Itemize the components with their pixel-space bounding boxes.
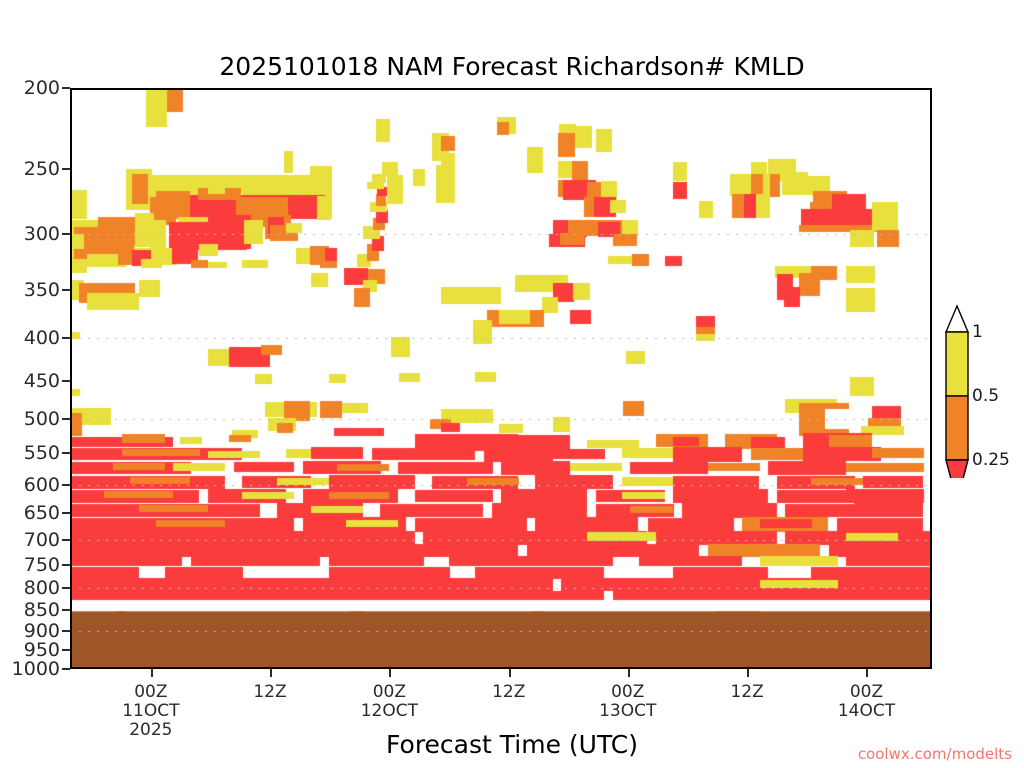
x-tick-label-line: 00Z: [599, 683, 656, 702]
y-tick-mark-300: [62, 233, 70, 235]
x-tick-mark-5: [747, 669, 749, 677]
x-tick-mark-6: [866, 669, 868, 677]
x-tick-mark-0: [151, 669, 153, 677]
y-tick-mark-200: [62, 87, 70, 89]
x-tick-label-line: 00Z: [361, 683, 418, 702]
plot-area[interactable]: [70, 88, 932, 669]
y-tick-mark-600: [62, 484, 70, 486]
chart-title: 2025101018 NAM Forecast Richardson# KMLD: [0, 52, 1024, 81]
x-tick-label-line: 14OCT: [838, 702, 895, 721]
y-tick-mark-950: [62, 649, 70, 651]
y-tick-mark-800: [62, 587, 70, 589]
x-tick-label-4: 00Z13OCT: [599, 683, 656, 721]
x-tick-label-line: 00Z: [838, 683, 895, 702]
colorbar-tick-label_1: 1: [972, 322, 983, 342]
x-tick-label-line: 13OCT: [599, 702, 656, 721]
x-tick-mark-1: [270, 669, 272, 677]
colorbar-band-yellow: [946, 332, 968, 396]
y-tick-mark-900: [62, 630, 70, 632]
colorbar-legend: 10.50.25: [940, 288, 1024, 478]
y-tick-mark-400: [62, 337, 70, 339]
colorbar-band-orange: [946, 396, 968, 460]
colorbar-tick-label_025: 0.25: [972, 450, 1010, 470]
x-tick-label-6: 00Z14OCT: [838, 683, 895, 721]
y-tick-mark-650: [62, 512, 70, 514]
watermark-link[interactable]: coolwx.com/modelts: [858, 745, 1012, 763]
y-tick-mark-750: [62, 564, 70, 566]
x-tick-label-line: 12Z: [730, 683, 763, 702]
x-tick-label-5: 12Z: [730, 683, 763, 702]
x-tick-label-line: 12Z: [253, 683, 286, 702]
colorbar-under-arrow: [946, 460, 968, 478]
x-tick-label-2: 00Z12OCT: [361, 683, 418, 721]
y-tick-mark-250: [62, 168, 70, 170]
x-tick-label-1: 12Z: [253, 683, 286, 702]
y-tick-mark-500: [62, 418, 70, 420]
chart-page: 2025101018 NAM Forecast Richardson# KMLD…: [0, 0, 1024, 768]
y-tick-mark-550: [62, 452, 70, 454]
x-tick-label-3: 12Z: [492, 683, 525, 702]
x-tick-mark-4: [628, 669, 630, 677]
x-tick-label-line: 00Z: [122, 683, 179, 702]
y-tick-mark-450: [62, 380, 70, 382]
x-tick-mark-3: [509, 669, 511, 677]
y-axis-tick-marks: [0, 88, 70, 669]
colorbar-over-arrow: [946, 306, 968, 332]
x-tick-mark-2: [389, 669, 391, 677]
colorbar-tick-label_05: 0.5: [972, 386, 999, 406]
x-axis-tick-marks: [70, 669, 932, 679]
x-tick-label-line: 12OCT: [361, 702, 418, 721]
y-tick-mark-700: [62, 539, 70, 541]
y-tick-mark-350: [62, 289, 70, 291]
y-tick-mark-1000: [62, 668, 70, 670]
x-tick-label-line: 11OCT: [122, 702, 179, 721]
richardson-number-heatmap[interactable]: [70, 88, 932, 669]
x-tick-label-line: 12Z: [492, 683, 525, 702]
y-tick-mark-850: [62, 609, 70, 611]
